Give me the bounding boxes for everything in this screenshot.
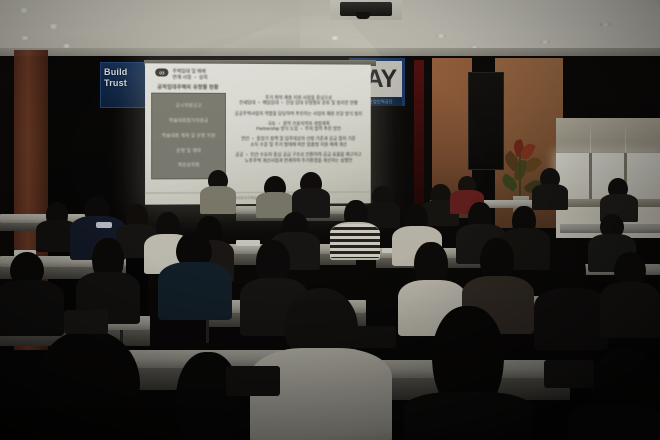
chair-back <box>352 326 396 348</box>
shirt-collar <box>96 222 112 228</box>
ceiling-downlight <box>18 8 30 13</box>
audience-body <box>158 262 232 320</box>
slide-title-line-2: 연계 사업 ・ 실적 <box>172 75 207 81</box>
slide-menu-item: 학술대회 계획 및 운영 지원 <box>154 130 223 141</box>
slide-badge: 03 <box>155 68 168 76</box>
slide-paragraph-line: 공공 ・ 민간 수요자 중심 공급 구조로 전환하여 공급 효율을 제고하고 <box>232 152 365 158</box>
chair-back <box>64 310 108 334</box>
foreground-body <box>404 392 532 440</box>
chair-back <box>544 360 594 388</box>
slide-paragraph-line: 전세임대 ・ 매입임대 ・ 건설 임대 유형별로 분류 및 정리한 현황 <box>232 100 365 106</box>
ceiling-downlight <box>20 36 30 40</box>
window-blind <box>626 118 660 153</box>
audience-body <box>0 280 64 336</box>
white-paper <box>236 240 260 246</box>
slide-paragraph-line: 소득 수준 및 주거 형태에 따른 맞춤형 지원 체계 개선 <box>232 142 365 148</box>
ceiling-downlight <box>436 34 446 38</box>
ceiling-downlight <box>600 22 611 27</box>
slide-paragraph-line: 공공주택사업자 역할을 담당하며 추진하는 사업의 재원 조달 방식 정리 <box>232 110 365 116</box>
foreground-body <box>568 404 660 440</box>
slide-paragraph-line: Partnership 방식 도입 ・ 부처 협력 추진 방안 <box>232 126 365 132</box>
slide-menu-item: 학술대회참가지원금 <box>154 115 223 126</box>
slide-body: 공시지원공고 학술대회참가지원금 학술대회 계획 및 운영 지원 운영 및 계약… <box>151 92 365 179</box>
audience-head <box>614 252 646 286</box>
slide-section-caption: 공적임대주택의 유형별 현황 <box>157 83 365 91</box>
audience-body <box>200 186 236 214</box>
foreground-head <box>432 306 504 406</box>
wall-accent-strip <box>414 60 424 210</box>
slide-paragraph: 공공주택사업자 역할을 담당하며 추진하는 사업의 재원 조달 방식 정리 <box>232 110 365 116</box>
window-blind <box>591 118 625 153</box>
slide-paragraph: 국토 ・ 광역 가용지역의 개발계획 Partnership 방식 도입 ・ 부… <box>232 121 365 132</box>
slide-paragraph: 주거 취약 계층 지원 사업을 중심으로 전세임대 ・ 매입임대 ・ 건설 임대… <box>232 95 365 107</box>
chair-back <box>226 366 280 396</box>
presentation-slide: 03 주택임대 및 매매 연계 사업 ・ 실적 공적임대주택의 유형별 현황 공… <box>145 63 371 204</box>
slide-header: 03 주택임대 및 매매 연계 사업 ・ 실적 <box>155 68 365 81</box>
projector-lens-icon <box>356 12 370 19</box>
window-mullion <box>589 153 592 199</box>
striped-shirt <box>330 224 380 258</box>
slide-paragraph: 연간 ・ 중장기 정책 및 입주대상자 선정 기준과 공급 절차 기준 소득 수… <box>232 136 365 147</box>
slide-title-line-1: 주택임대 및 매매 <box>172 69 207 75</box>
slide-menu-box: 공시지원공고 학술대회참가지원금 학술대회 계획 및 운영 지원 운영 및 계약… <box>151 92 226 179</box>
wall-mounted-display <box>468 72 504 170</box>
slide-menu-item: 운영 및 계약 <box>154 145 223 156</box>
audience-body <box>534 288 608 350</box>
lecture-hall-photograph: Build Trust VAY 한국산업인력공단 03 주택임대 및 매매 연계… <box>0 0 660 440</box>
window-pane <box>627 153 660 199</box>
slide-menu-item: 공시지원공고 <box>154 100 223 111</box>
audience-body <box>532 184 568 210</box>
audience-body <box>600 282 660 338</box>
slide-paragraph: 공공 ・ 민간 수요자 중심 공급 구조로 전환하여 공급 효율을 제고하고 노… <box>232 152 365 163</box>
slide-paragraph-column: 주거 취약 계층 지원 사업을 중심으로 전세임대 ・ 매입임대 ・ 건설 임대… <box>232 93 365 179</box>
ceiling-downlight <box>540 40 550 44</box>
slide-paragraph-line: 노후주택 개선사업과 연계하여 주거환경을 개선하는 실행안 <box>232 157 365 163</box>
projection-screen: 03 주택임대 및 매매 연계 사업 ・ 실적 공적임대주택의 유형별 현황 공… <box>145 63 371 204</box>
window-blind <box>556 118 590 153</box>
plant-stem <box>519 154 521 202</box>
slide-menu-item: 계승실적회 <box>154 160 223 171</box>
foreground-body <box>0 406 190 440</box>
slide-title-block: 주택임대 및 매매 연계 사업 ・ 실적 <box>172 69 207 81</box>
ceiling-downlight <box>48 24 59 29</box>
